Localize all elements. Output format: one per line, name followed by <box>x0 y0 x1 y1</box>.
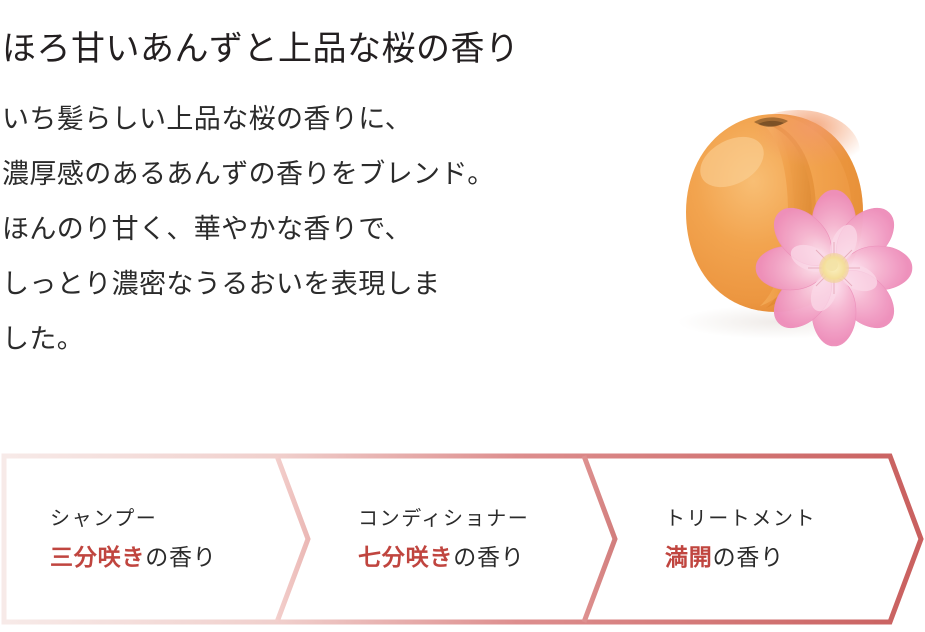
step-stage-suffix: の香り <box>713 544 784 570</box>
step-kind-label: コンディショナー <box>358 504 529 534</box>
page-root: ほろ甘いあんずと上品な桜の香り いち髪らしい上品な桜の香りに、 濃厚感のあるあん… <box>0 0 925 632</box>
cherry-blossom-flower <box>756 190 912 346</box>
step-stage-accent: 七分咲き <box>358 544 453 570</box>
page-title: ほろ甘いあんずと上品な桜の香り <box>2 27 702 71</box>
description-line: いち髪らしい上品な桜の香りに、 <box>2 92 622 147</box>
description-line: ほんのり甘く、華やかな香りで、 <box>2 202 622 257</box>
step-stage-label: 三分咲きの香り <box>50 542 217 572</box>
step-stage-suffix: の香り <box>145 544 216 570</box>
step-stage-accent: 三分咲き <box>50 544 145 570</box>
step-item-shampoo[interactable]: シャンプー 三分咲きの香り <box>50 504 217 572</box>
step-kind-label: シャンプー <box>50 504 217 534</box>
description-block: いち髪らしい上品な桜の香りに、 濃厚感のあるあんずの香りをブレンド。 ほんのり甘… <box>2 92 622 367</box>
step-stage-label: 七分咲きの香り <box>358 542 529 572</box>
description-line: 濃厚感のあるあんずの香りをブレンド。 <box>2 147 622 202</box>
step-kind-label: トリートメント <box>665 504 816 534</box>
step-item-conditioner[interactable]: コンディショナー 七分咲きの香り <box>358 504 529 572</box>
apricot-and-sakura-illustration <box>648 100 925 350</box>
step-stage-suffix: の香り <box>453 544 524 570</box>
step-stage-accent: 満開 <box>665 544 713 570</box>
description-line: しっとり濃密なうるおいを表現しま <box>2 257 622 312</box>
description-line: した。 <box>2 312 622 367</box>
step-stage-label: 満開の香り <box>665 542 816 572</box>
fragrance-step-bar: シャンプー 三分咲きの香り コンディショナー 七分咲きの香り トリートメント 満… <box>0 452 925 627</box>
step-item-treatment[interactable]: トリートメント 満開の香り <box>665 504 816 572</box>
